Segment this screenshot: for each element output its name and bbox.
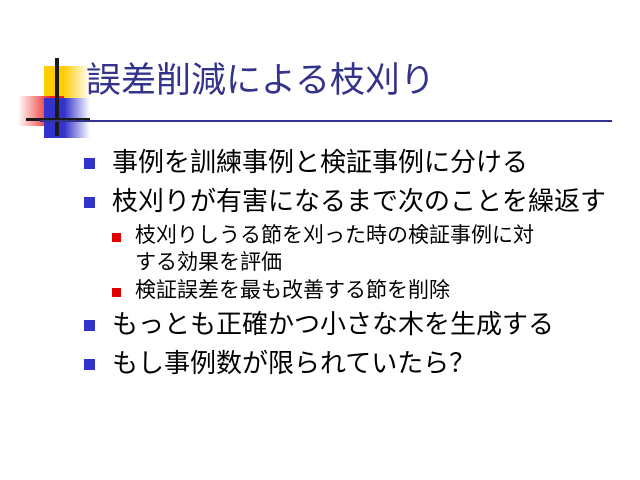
presentation-slide: 誤差削減による枝刈り 事例を訓練事例と検証事例に分ける 枝刈りが有害になるまで次… <box>0 0 640 480</box>
slide-body-list: 事例を訓練事例と検証事例に分ける 枝刈りが有害になるまで次のことを繰返す 枝刈り… <box>84 144 624 384</box>
bullet-marker-level1-icon <box>84 320 95 331</box>
list-item-text: もし事例数が限られていたら？ <box>112 345 475 382</box>
title-underline-rule <box>40 120 612 122</box>
logo-vertical-line <box>55 58 59 136</box>
bullet-marker-level1-icon <box>84 359 95 370</box>
list-item: 枝刈りしうる節を刈った時の検証事例に対する効果を評価 <box>112 222 624 277</box>
list-item-text: もっとも正確かつ小さな木を生成する <box>112 306 554 343</box>
list-item-text: 事例を訓練事例と検証事例に分ける <box>112 144 528 181</box>
slide-title: 誤差削減による枝刈り <box>86 62 606 101</box>
list-item: 事例を訓練事例と検証事例に分ける <box>84 144 624 181</box>
slide-decoration-logo <box>18 58 90 142</box>
bullet-marker-level2-icon <box>112 233 121 242</box>
list-item: もっとも正確かつ小さな木を生成する <box>84 306 624 343</box>
list-item-text: 枝刈りしうる節を刈った時の検証事例に対する効果を評価 <box>135 222 535 277</box>
list-item-text: 検証誤差を最も改善する節を削除 <box>135 277 450 304</box>
list-item: もし事例数が限られていたら？ <box>84 345 624 382</box>
list-item-text: 枝刈りが有害になるまで次のことを繰返す <box>112 183 606 220</box>
bullet-marker-level1-icon <box>84 158 95 169</box>
bullet-marker-level2-icon <box>112 288 121 297</box>
list-item: 検証誤差を最も改善する節を削除 <box>112 277 624 304</box>
list-item: 枝刈りが有害になるまで次のことを繰返す <box>84 183 624 220</box>
bullet-marker-level1-icon <box>84 197 95 208</box>
